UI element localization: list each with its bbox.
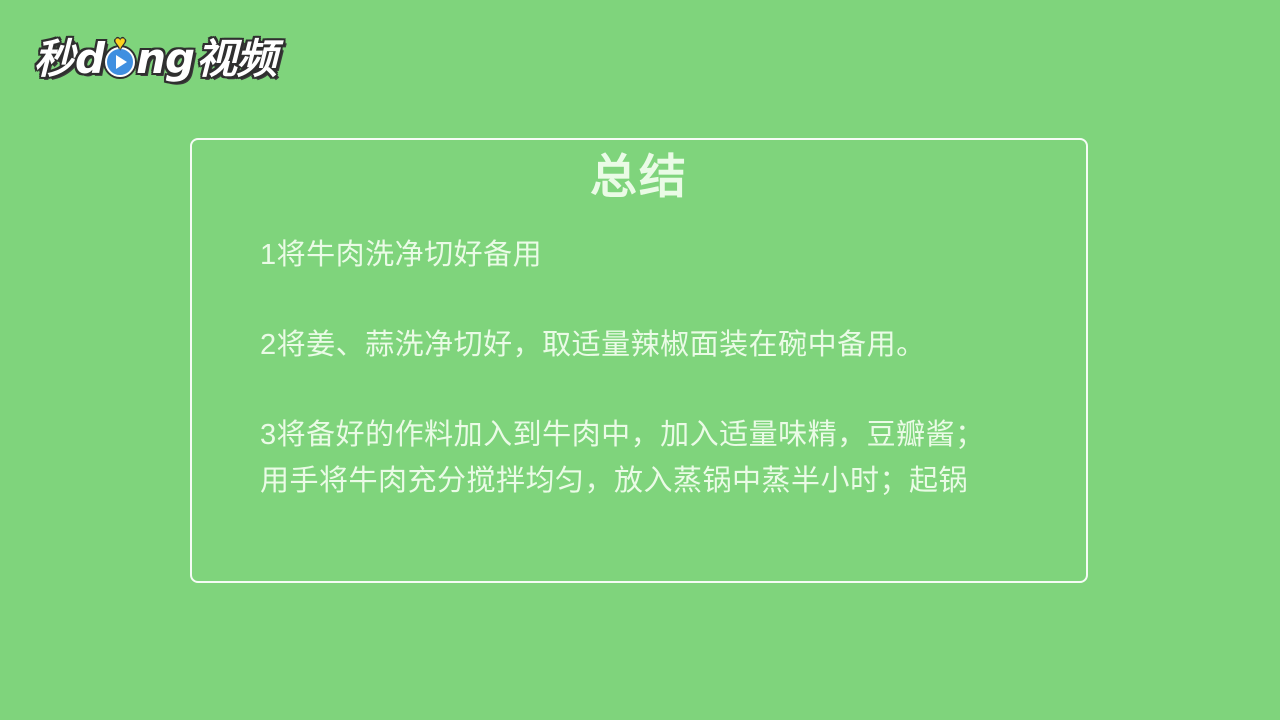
step-line: 2将姜、蒜洗净切好，取适量辣椒面装在碗中备用。 <box>260 322 1056 368</box>
play-triangle-icon <box>116 55 127 69</box>
logo-tail-characters: 视频 <box>196 39 276 80</box>
summary-card: 总结 1将牛肉洗净切好备用 2将姜、蒜洗净切好，取适量辣椒面装在碗中备用。 3将… <box>190 138 1088 583</box>
step-line: 3将备好的作料加入到牛肉中，加入适量味精，豆瓣酱； <box>260 412 1056 458</box>
logo-lead-character: 秒 <box>34 39 74 80</box>
step-block: 2将姜、蒜洗净切好，取适量辣椒面装在碗中备用。 <box>260 322 1056 368</box>
card-body: 1将牛肉洗净切好备用 2将姜、蒜洗净切好，取适量辣椒面装在碗中备用。 3将备好的… <box>260 232 1056 504</box>
step-line: 用手将牛肉充分搅拌均匀，放入蒸锅中蒸半小时；起锅 <box>260 458 1056 504</box>
brand-logo: 秒 d ♥ ng 视频 <box>34 28 276 90</box>
step-block: 3将备好的作料加入到牛肉中，加入适量味精，豆瓣酱； 用手将牛肉充分搅拌均匀，放入… <box>260 412 1056 504</box>
step-block: 1将牛肉洗净切好备用 <box>260 232 1056 278</box>
step-line: 1将牛肉洗净切好备用 <box>260 232 1056 278</box>
play-circle-icon: ♥ <box>105 47 135 77</box>
logo-latin-after: ng <box>136 38 194 80</box>
heart-icon: ♥ <box>110 35 130 53</box>
card-title: 总结 <box>192 150 1086 204</box>
logo-latin-before: d <box>75 38 104 80</box>
video-frame: 秒 d ♥ ng 视频 总结 1将牛肉洗净切好备用 2将姜、蒜洗净切好，取适量辣… <box>0 0 1280 720</box>
